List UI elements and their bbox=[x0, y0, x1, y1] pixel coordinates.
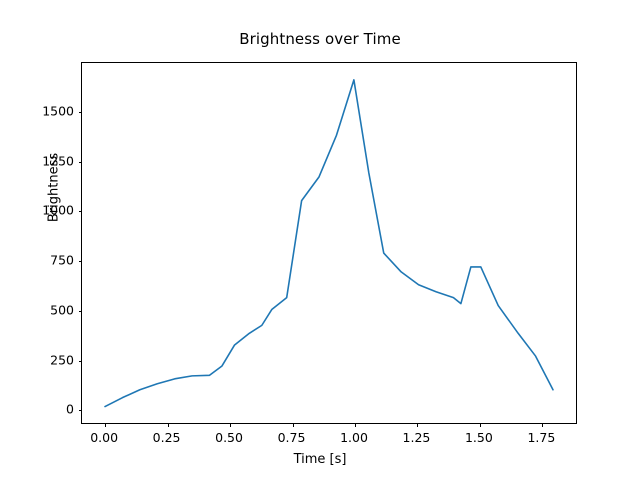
x-tick-mark bbox=[293, 423, 294, 427]
x-tick-label: 1.00 bbox=[340, 430, 368, 445]
line-plot bbox=[82, 63, 576, 423]
x-tick-mark bbox=[542, 423, 543, 427]
chart-title: Brightness over Time bbox=[0, 30, 640, 48]
x-tick-label: 1.50 bbox=[465, 430, 493, 445]
y-tick-mark bbox=[79, 162, 83, 163]
x-tick-mark bbox=[168, 423, 169, 427]
y-tick-mark bbox=[79, 410, 83, 411]
y-tick-label: 0 bbox=[20, 402, 74, 417]
y-tick-mark bbox=[79, 311, 83, 312]
x-axis-label: Time [s] bbox=[0, 452, 640, 467]
data-line-brightness bbox=[105, 80, 553, 407]
y-tick-label: 750 bbox=[20, 253, 74, 268]
x-tick-label: 0.50 bbox=[215, 430, 243, 445]
x-tick-label: 0.00 bbox=[90, 430, 118, 445]
y-tick-mark bbox=[79, 112, 83, 113]
y-tick-label: 1500 bbox=[20, 103, 74, 118]
x-tick-label: 1.75 bbox=[527, 430, 555, 445]
plot-axes bbox=[81, 62, 577, 424]
x-tick-label: 1.25 bbox=[403, 430, 431, 445]
y-tick-label: 500 bbox=[20, 302, 74, 317]
x-tick-mark bbox=[355, 423, 356, 427]
figure-canvas: Brightness over Time 0250500750100012501… bbox=[0, 0, 640, 480]
x-tick-label: 0.75 bbox=[278, 430, 306, 445]
y-axis-label: Brightness bbox=[47, 128, 62, 248]
x-tick-mark bbox=[417, 423, 418, 427]
y-tick-mark bbox=[79, 361, 83, 362]
x-tick-mark bbox=[480, 423, 481, 427]
y-tick-mark bbox=[79, 261, 83, 262]
x-tick-label: 0.25 bbox=[153, 430, 181, 445]
x-tick-mark bbox=[105, 423, 106, 427]
y-tick-mark bbox=[79, 211, 83, 212]
y-tick-label: 250 bbox=[20, 352, 74, 367]
x-tick-mark bbox=[230, 423, 231, 427]
